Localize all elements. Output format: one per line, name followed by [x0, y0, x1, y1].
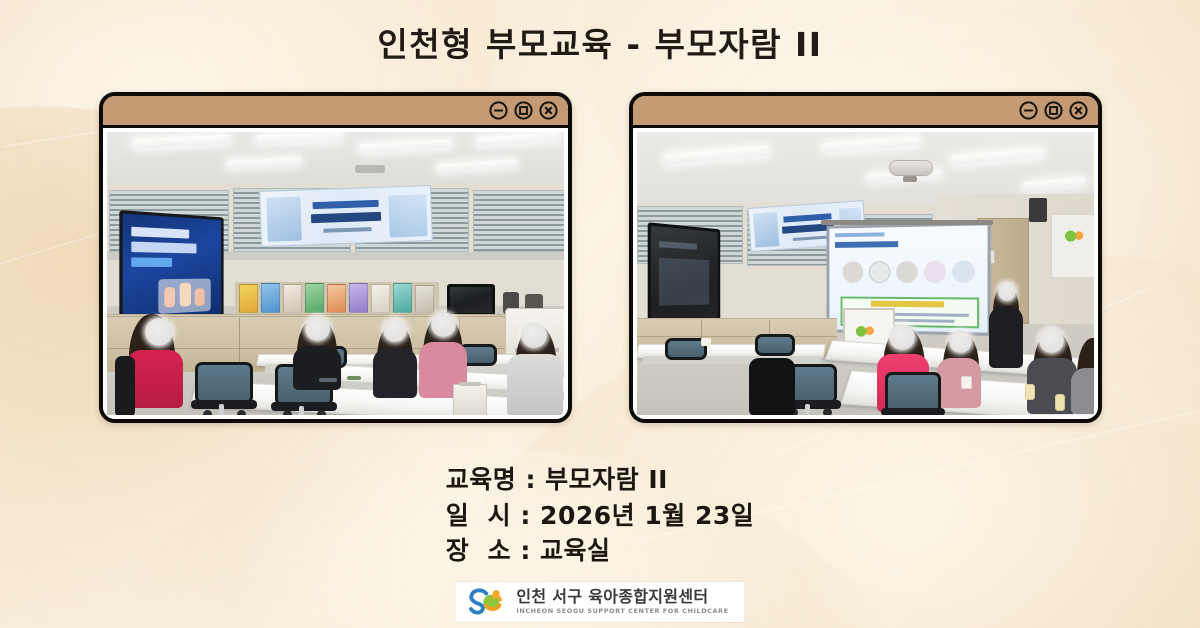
close-icon[interactable] — [539, 101, 558, 120]
photo-window-left — [99, 92, 572, 423]
photo-windows-row — [0, 92, 1200, 423]
organization-logo: 인천 서구 육아종합지원센터 INCHEON SEOGU SUPPORT CEN… — [455, 582, 744, 622]
event-info: 교육명 : 부모자람 II 일 시 : 2026년 1월 23일 장 소 : 교… — [0, 462, 1200, 569]
classroom-photo-left — [107, 132, 564, 415]
window-body-left — [103, 128, 568, 419]
window-titlebar-right — [633, 96, 1098, 128]
organization-name-ko: 인천 서구 육아종합지원센터 — [516, 589, 728, 606]
maximize-icon[interactable] — [514, 101, 533, 120]
info-line-datetime: 일 시 : 2026년 1월 23일 — [446, 498, 755, 534]
page-title: 인천형 부모교육 - 부모자람 II — [0, 18, 1200, 66]
info-line-location: 장 소 : 교육실 — [446, 533, 755, 569]
logo-text-block: 인천 서구 육아종합지원센터 INCHEON SEOGU SUPPORT CEN… — [516, 589, 728, 616]
minimize-icon[interactable] — [489, 101, 508, 120]
organization-name-en: INCHEON SEOGU SUPPORT CENTER FOR CHILDCA… — [516, 607, 728, 615]
maximize-icon[interactable] — [1044, 101, 1063, 120]
window-titlebar-left — [103, 96, 568, 128]
window-body-right — [633, 128, 1098, 419]
minimize-icon[interactable] — [1019, 101, 1038, 120]
photo-window-right — [629, 92, 1102, 423]
info-line-program: 교육명 : 부모자람 II — [446, 462, 755, 498]
classroom-photo-right — [637, 132, 1094, 415]
close-icon[interactable] — [1069, 101, 1088, 120]
seogu-childcare-logo-icon — [465, 587, 507, 617]
